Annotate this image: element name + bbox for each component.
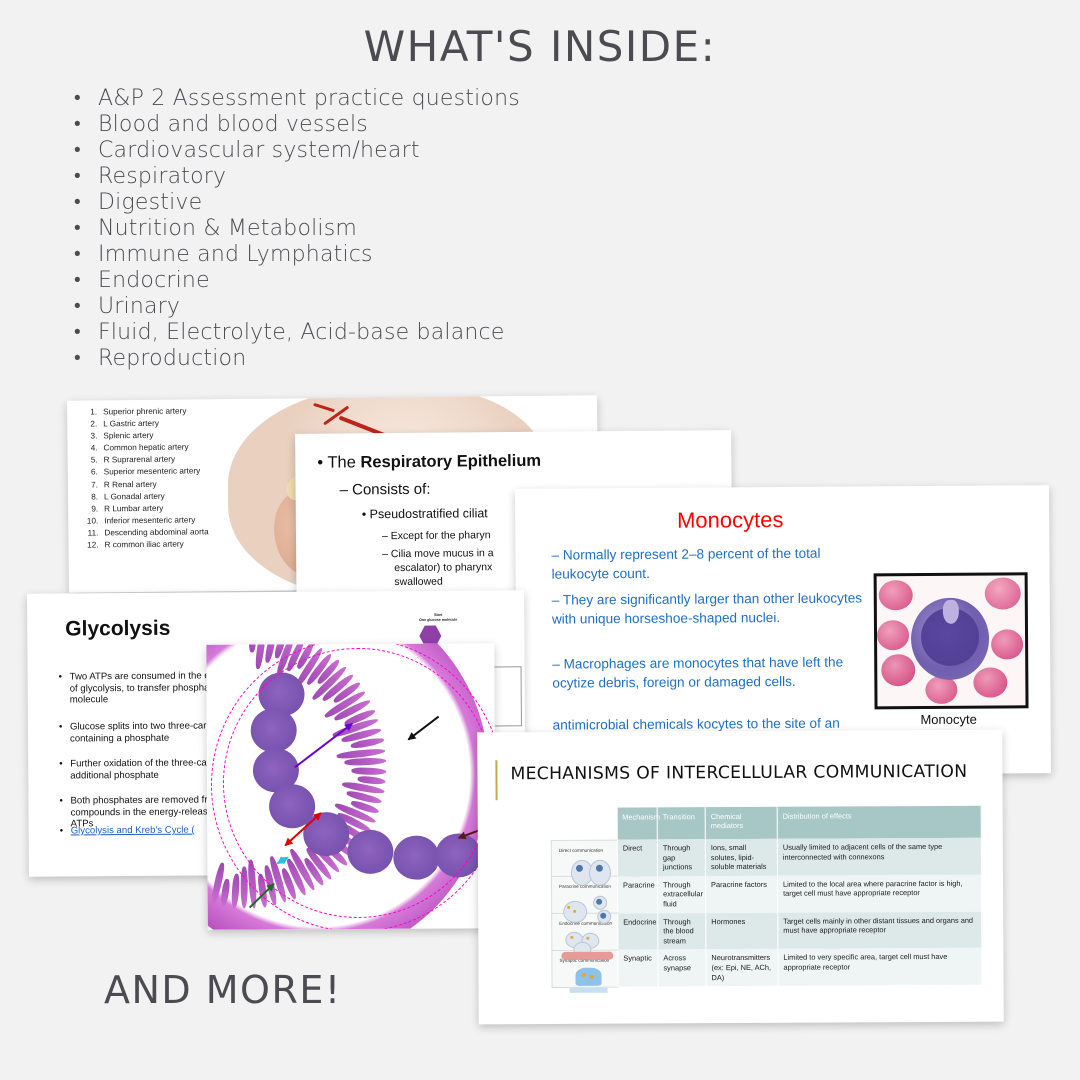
respiratory-heading: • The Respiratory Epithelium xyxy=(317,452,541,473)
contents-item: •Reproduction xyxy=(74,346,774,372)
table-cell-mechanism: Endocrine xyxy=(618,913,658,950)
contents-item: •Blood and blood vessels xyxy=(74,112,774,138)
poster-canvas: WHAT'S INSIDE: •A&P 2 Assessment practic… xyxy=(0,0,1080,1080)
artery-index: 12. xyxy=(76,539,104,551)
artery-index: 3. xyxy=(75,431,103,443)
contents-item: •Respiratory xyxy=(74,164,774,190)
slide-thumbnail-histology[interactable]: Here we have the actual histology of the… xyxy=(206,643,495,930)
table-cell-mediators: Paracrine factors xyxy=(705,876,777,913)
respiratory-sub1: – Consists of: xyxy=(340,481,431,499)
and-more-text: AND MORE! xyxy=(104,968,342,1012)
contents-item-label: Reproduction xyxy=(98,346,246,372)
bullet-icon: • xyxy=(74,112,98,138)
contents-item: •A&P 2 Assessment practice questions xyxy=(74,86,774,112)
glycolysis-start-sub: One glucose molecule xyxy=(419,617,457,621)
table-cell-mediators: Ions, small solutes, lipid-soluble mater… xyxy=(705,839,777,876)
bullet-icon: • xyxy=(74,320,98,346)
table-cell-mechanism: Paracrine xyxy=(617,876,657,913)
table-row: Endocrine communicationEndocrineThrough … xyxy=(552,911,982,950)
table-cell-mediators: Neurotransmitters (ex: Epi, NE, ACh, DA) xyxy=(706,949,778,986)
artery-label-list: 1.Superior phrenic artery2.L Gastric art… xyxy=(75,404,327,552)
contents-item: •Fluid, Electrolyte, Acid-base balance xyxy=(74,320,774,346)
artery-index: 5. xyxy=(76,455,104,467)
contents-item-label: Urinary xyxy=(98,294,180,320)
monocytes-bullet-1: – Normally represent 2–8 percent of the … xyxy=(551,544,881,583)
table-column-header: Distribution of effects xyxy=(777,806,981,839)
table-row: Paracrine communicationParacrineThrough … xyxy=(551,875,981,914)
mechanism-icon-label: Direct communication xyxy=(559,845,612,855)
table-row: Direct communicationDirectThrough gap ju… xyxy=(551,838,981,877)
contents-item: •Endocrine xyxy=(74,268,774,294)
table-column-header xyxy=(551,808,617,840)
artery-name: R Suprarenal artery xyxy=(104,454,176,467)
contents-item-label: Nutrition & Metabolism xyxy=(98,216,357,242)
contents-item: •Nutrition & Metabolism xyxy=(74,216,774,242)
page-title: WHAT'S INSIDE: xyxy=(0,22,1080,71)
accent-rule xyxy=(495,760,497,800)
artery-name: Superior phrenic artery xyxy=(103,406,186,419)
monocytes-bullet-3: – Macrophages are monocytes that have le… xyxy=(552,653,882,692)
contents-item-label: Digestive xyxy=(98,190,202,216)
bullet-icon: • xyxy=(74,294,98,320)
contents-item-label: Cardiovascular system/heart xyxy=(98,138,420,164)
slide-thumbnail-mechanisms[interactable]: MECHANISMS OF INTERCELLULAR COMMUNICATIO… xyxy=(477,730,1004,1025)
artery-index: 10. xyxy=(76,515,104,527)
bullet-icon: • xyxy=(74,268,98,294)
respiratory-sub2: • Pseudostratified ciliat xyxy=(362,506,488,521)
table-cell-effects: Limited to the local area where paracrin… xyxy=(777,875,981,913)
glycolysis-link[interactable]: •Glycolysis and Kreb's Cycle ( xyxy=(71,825,195,837)
table-cell-transition: Through extracellular fluid xyxy=(657,876,705,913)
small-intestine-micrograph xyxy=(206,643,495,930)
artery-name: Splenic artery xyxy=(103,430,153,443)
artery-name: L Gonadal artery xyxy=(104,490,165,503)
table-cell-transition: Across synapse xyxy=(658,950,706,987)
respiratory-sub3: – Except for the pharyn xyxy=(382,528,491,543)
table-cell-effects: Usually limited to adjacent cells of the… xyxy=(777,838,981,876)
contents-item: •Immune and Lymphatics xyxy=(74,242,774,268)
table-header-row: MechanismTransitionChemical mediatorsDis… xyxy=(551,806,981,840)
contents-item-label: Immune and Lymphatics xyxy=(98,242,373,268)
bullet-icon: • xyxy=(74,164,98,190)
glycolysis-title: Glycolysis xyxy=(65,617,170,642)
contents-item-label: A&P 2 Assessment practice questions xyxy=(98,86,520,112)
artery-index: 1. xyxy=(75,406,103,418)
artery-index: 9. xyxy=(76,503,104,515)
artery-index: 4. xyxy=(75,443,103,455)
bullet-icon: • xyxy=(74,346,98,372)
artery-name: Inferior mesenteric artery xyxy=(104,514,195,527)
artery-index: 2. xyxy=(75,418,103,430)
table-cell-effects: Limited to very specific area, target ce… xyxy=(778,948,982,986)
contents-item: •Digestive xyxy=(74,190,774,216)
table-column-header: Transition xyxy=(657,807,705,839)
mechanisms-title: MECHANISMS OF INTERCELLULAR COMMUNICATIO… xyxy=(510,762,967,784)
bullet-icon: • xyxy=(74,242,98,268)
artery-name: Superior mesenteric artery xyxy=(104,466,201,479)
artery-name: Descending abdominal aorta xyxy=(104,526,208,539)
artery-name: R Lumbar artery xyxy=(104,503,163,516)
table-cell-mediators: Hormones xyxy=(706,912,778,949)
table-cell-mechanism: Direct xyxy=(617,839,657,876)
table-row: Synaptic communicationSynapticAcross syn… xyxy=(552,948,982,987)
mechanisms-table: MechanismTransitionChemical mediatorsDis… xyxy=(551,806,983,988)
contents-item-label: Endocrine xyxy=(98,268,210,294)
artery-name: R Renal artery xyxy=(104,478,157,491)
glycolysis-start-label: Start xyxy=(434,613,442,617)
artery-name: R common iliac artery xyxy=(104,539,183,552)
contents-item-label: Fluid, Electrolyte, Acid-base balance xyxy=(98,320,505,346)
bullet-icon: • xyxy=(74,138,98,164)
mechanism-icon: Direct communication xyxy=(551,840,617,877)
contents-item-label: Blood and blood vessels xyxy=(98,112,368,138)
contents-item-label: Respiratory xyxy=(98,164,226,190)
artery-name: Common hepatic artery xyxy=(103,442,188,455)
artery-index: 8. xyxy=(76,491,104,503)
bullet-icon: • xyxy=(74,86,98,112)
artery-index: 6. xyxy=(76,467,104,479)
contents-list: •A&P 2 Assessment practice questions•Blo… xyxy=(74,86,774,372)
contents-item: •Cardiovascular system/heart xyxy=(74,138,774,164)
table-cell-mechanism: Synaptic xyxy=(618,950,658,987)
monocytes-title: Monocytes xyxy=(515,506,945,535)
table-cell-transition: Through the blood stream xyxy=(658,913,706,950)
bullet-icon: • xyxy=(74,216,98,242)
monocyte-caption: Monocyte xyxy=(875,711,1023,727)
table-cell-effects: Target cells mainly in other distant tis… xyxy=(778,911,982,949)
contents-item: •Urinary xyxy=(74,294,774,320)
artery-name: L Gastric artery xyxy=(103,418,159,431)
bullet-icon: • xyxy=(74,190,98,216)
table-column-header: Mechanism xyxy=(617,807,657,839)
monocytes-bullet-2: – They are significantly larger than oth… xyxy=(552,589,882,628)
table-column-header: Chemical mediators xyxy=(705,807,777,839)
monocyte-micrograph xyxy=(874,572,1029,709)
table-cell-transition: Through gap junctions xyxy=(657,839,705,876)
artery-index: 7. xyxy=(76,479,104,491)
artery-index: 11. xyxy=(76,527,104,539)
